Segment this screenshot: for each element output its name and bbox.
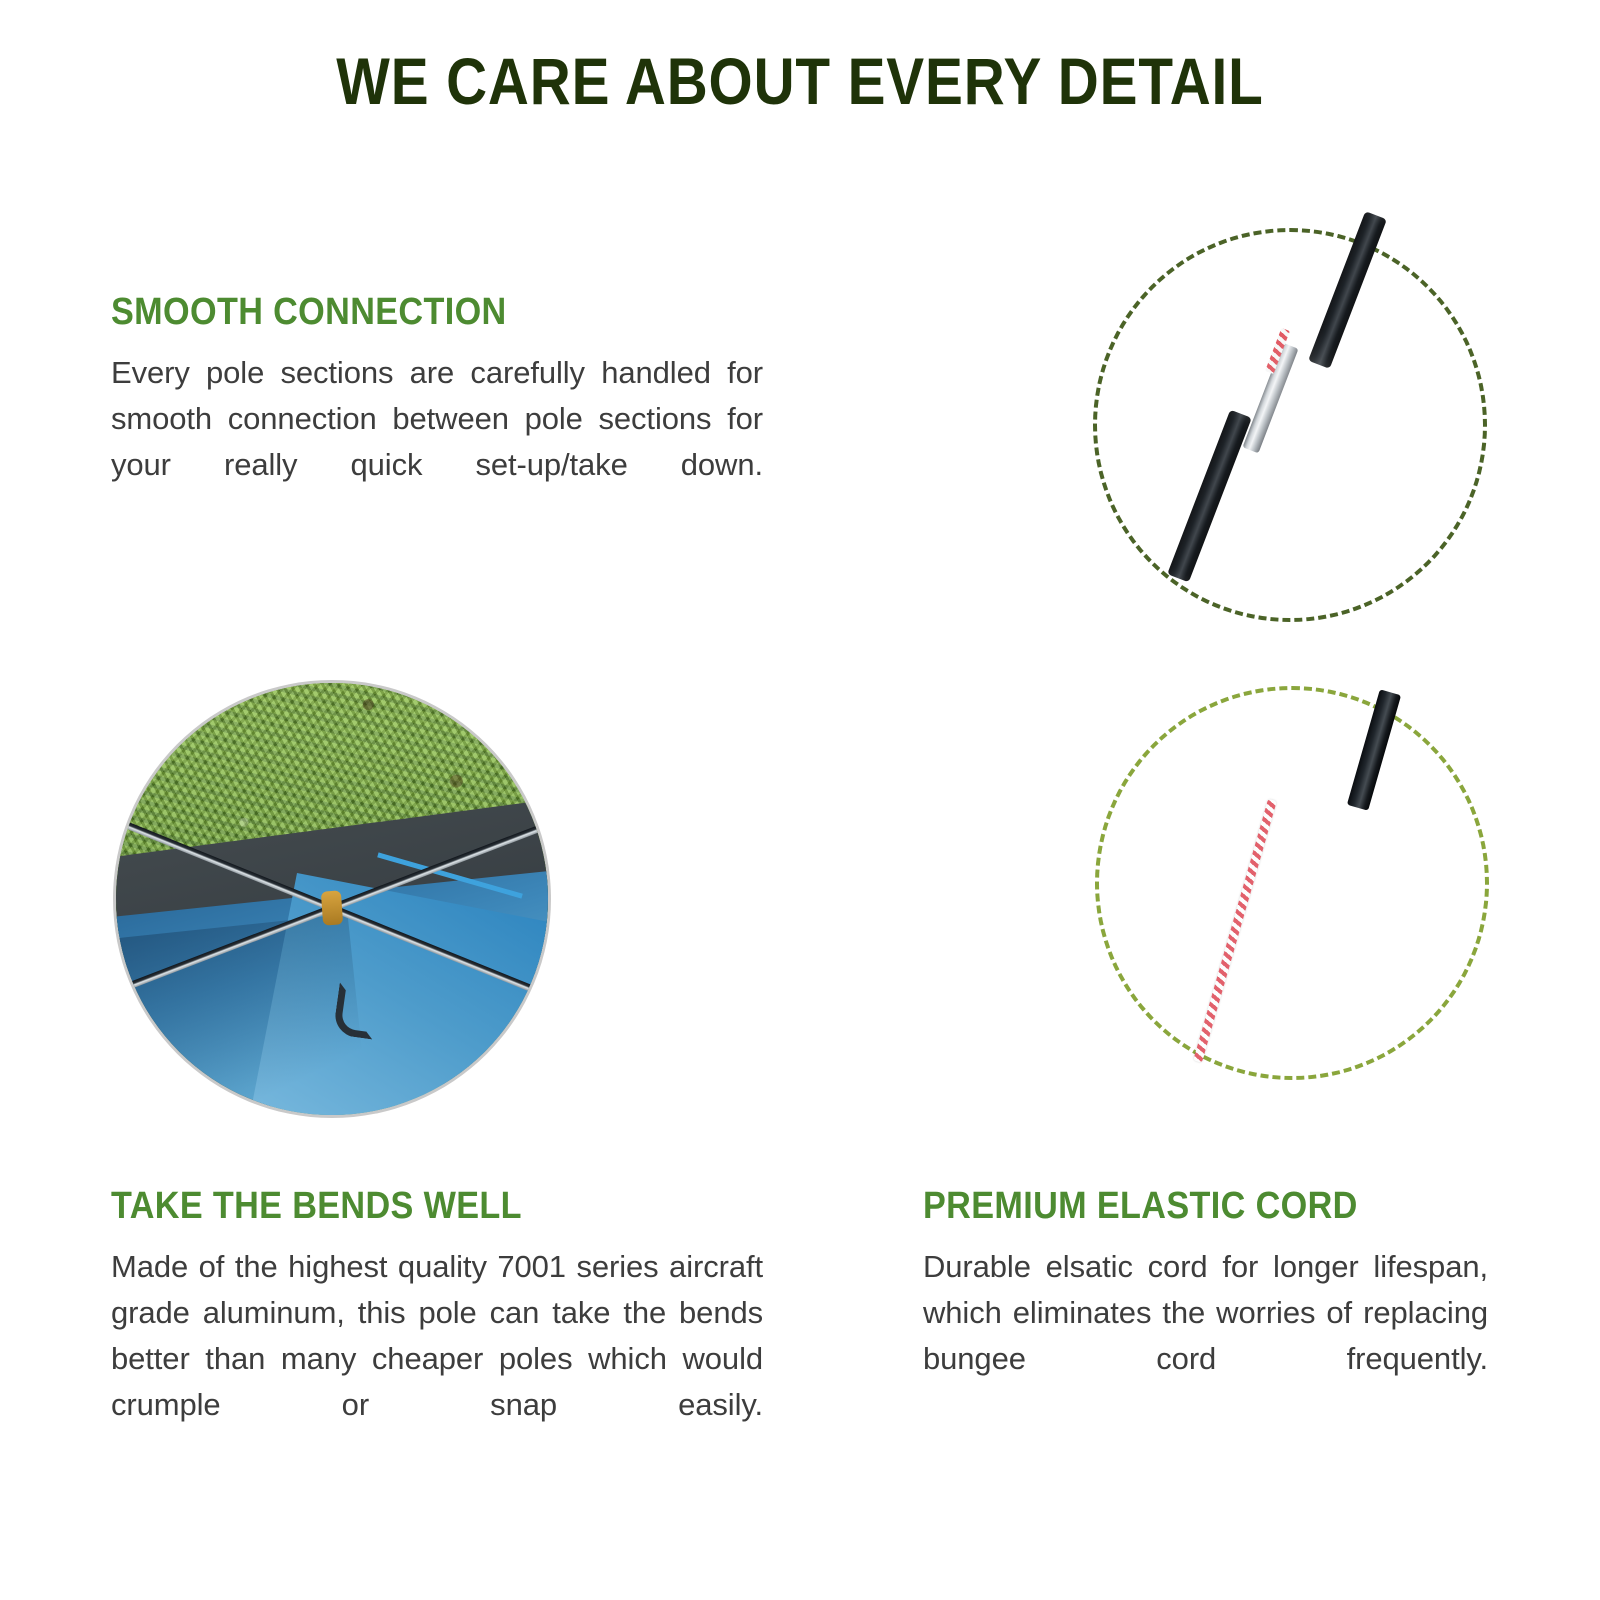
section-premium-elastic-cord: PREMIUM ELASTIC CORD Durable elsatic cor… <box>923 1186 1488 1429</box>
tent-pole-hub-clip <box>321 890 343 925</box>
section-smooth-connection: SMOOTH CONNECTION Every pole sections ar… <box>111 292 763 535</box>
dashed-circle-frame-pole-connection <box>1093 228 1487 622</box>
image-tent-pole-crossing-hub-on-grass <box>116 683 548 1115</box>
photo-content <box>116 683 548 1115</box>
page-title: WE CARE ABOUT EVERY DETAIL <box>112 46 1488 117</box>
section-heading-premium-elastic-cord: PREMIUM ELASTIC CORD <box>923 1186 1432 1228</box>
dashed-circle-frame-elastic-cord <box>1095 686 1489 1080</box>
section-body-smooth-connection: Every pole sections are carefully handle… <box>111 350 763 535</box>
section-take-the-bends-well: TAKE THE BENDS WELL Made of the highest … <box>111 1186 763 1475</box>
section-heading-smooth-connection: SMOOTH CONNECTION <box>111 292 698 334</box>
section-heading-take-the-bends-well: TAKE THE BENDS WELL <box>111 1186 698 1228</box>
section-body-premium-elastic-cord: Durable elsatic cord for longer lifespan… <box>923 1244 1488 1429</box>
product-detail-page: WE CARE ABOUT EVERY DETAIL SMOOTH CONNEC… <box>0 0 1600 1600</box>
section-body-take-the-bends-well: Made of the highest quality 7001 series … <box>111 1244 763 1475</box>
